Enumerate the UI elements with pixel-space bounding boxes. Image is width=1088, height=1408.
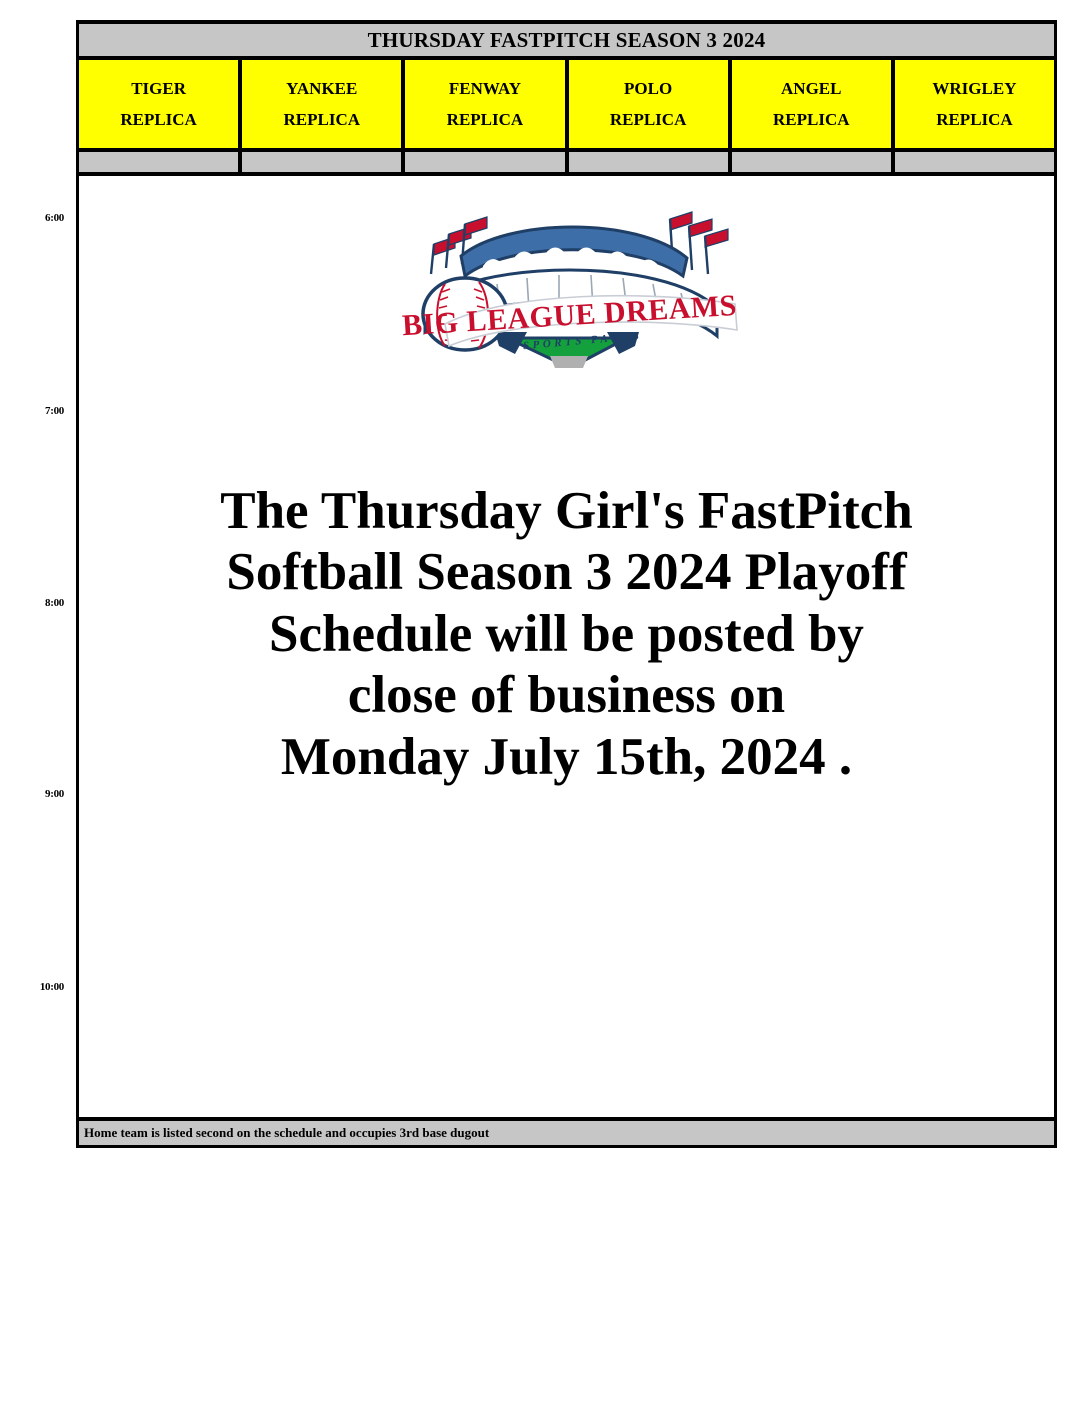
subheader-cell-tiger xyxy=(79,152,242,172)
time-label-9: 9:00 xyxy=(45,788,64,800)
time-label-7: 7:00 xyxy=(45,405,64,417)
field-header-tiger[interactable]: TIGER REPLICA xyxy=(79,60,242,148)
announcement-line-2: Softball Season 3 2024 Playoff xyxy=(109,542,1024,603)
schedule-body: BIG LEAGUE DREAMS SPORTS PARKS The Thurs… xyxy=(79,176,1054,1117)
field-sub-label: REPLICA xyxy=(447,111,524,128)
footer-note-text: Home team is listed second on the schedu… xyxy=(84,1125,489,1141)
time-label-8: 8:00 xyxy=(45,597,64,609)
time-label-6: 6:00 xyxy=(45,212,64,224)
subheader-cell-fenway xyxy=(405,152,568,172)
field-header-angel[interactable]: ANGEL REPLICA xyxy=(732,60,895,148)
time-gutter: 6:00 7:00 8:00 9:00 10:00 xyxy=(0,175,76,1150)
footer-note-bar: Home team is listed second on the schedu… xyxy=(79,1117,1054,1145)
subheader-cell-wrigley xyxy=(895,152,1054,172)
field-sub-label: REPLICA xyxy=(936,111,1013,128)
subheader-cell-polo xyxy=(569,152,732,172)
subheader-cell-yankee xyxy=(242,152,405,172)
subheader-cell-angel xyxy=(732,152,895,172)
field-header-wrigley[interactable]: WRIGLEY REPLICA xyxy=(895,60,1054,148)
field-header-row: TIGER REPLICA YANKEE REPLICA FENWAY REPL… xyxy=(79,60,1054,152)
field-sub-label: REPLICA xyxy=(610,111,687,128)
announcement-line-3: Schedule will be posted by xyxy=(109,604,1024,665)
field-header-polo[interactable]: POLO REPLICA xyxy=(569,60,732,148)
field-header-yankee[interactable]: YANKEE REPLICA xyxy=(242,60,405,148)
field-sub-label: REPLICA xyxy=(773,111,850,128)
field-name-label: ANGEL xyxy=(781,80,841,97)
field-name-label: WRIGLEY xyxy=(932,80,1016,97)
field-sub-label: REPLICA xyxy=(284,111,361,128)
field-name-label: YANKEE xyxy=(286,80,357,97)
announcement-line-1: The Thursday Girl's FastPitch xyxy=(109,481,1024,542)
field-name-label: TIGER xyxy=(131,80,186,97)
big-league-dreams-logo: BIG LEAGUE DREAMS SPORTS PARKS xyxy=(387,196,747,368)
schedule-title-bar: THURSDAY FASTPITCH SEASON 3 2024 xyxy=(79,24,1054,60)
field-name-label: FENWAY xyxy=(449,80,521,97)
announcement-line-4: close of business on xyxy=(109,665,1024,726)
page-title: THURSDAY FASTPITCH SEASON 3 2024 xyxy=(368,28,766,53)
subheader-row xyxy=(79,152,1054,176)
schedule-table: THURSDAY FASTPITCH SEASON 3 2024 TIGER R… xyxy=(76,20,1057,1148)
field-sub-label: REPLICA xyxy=(120,111,197,128)
announcement-line-5: Monday July 15th, 2024 . xyxy=(109,727,1024,788)
time-label-10: 10:00 xyxy=(40,981,64,993)
announcement-message: The Thursday Girl's FastPitch Softball S… xyxy=(79,481,1054,788)
field-name-label: POLO xyxy=(624,80,672,97)
field-header-fenway[interactable]: FENWAY REPLICA xyxy=(405,60,568,148)
